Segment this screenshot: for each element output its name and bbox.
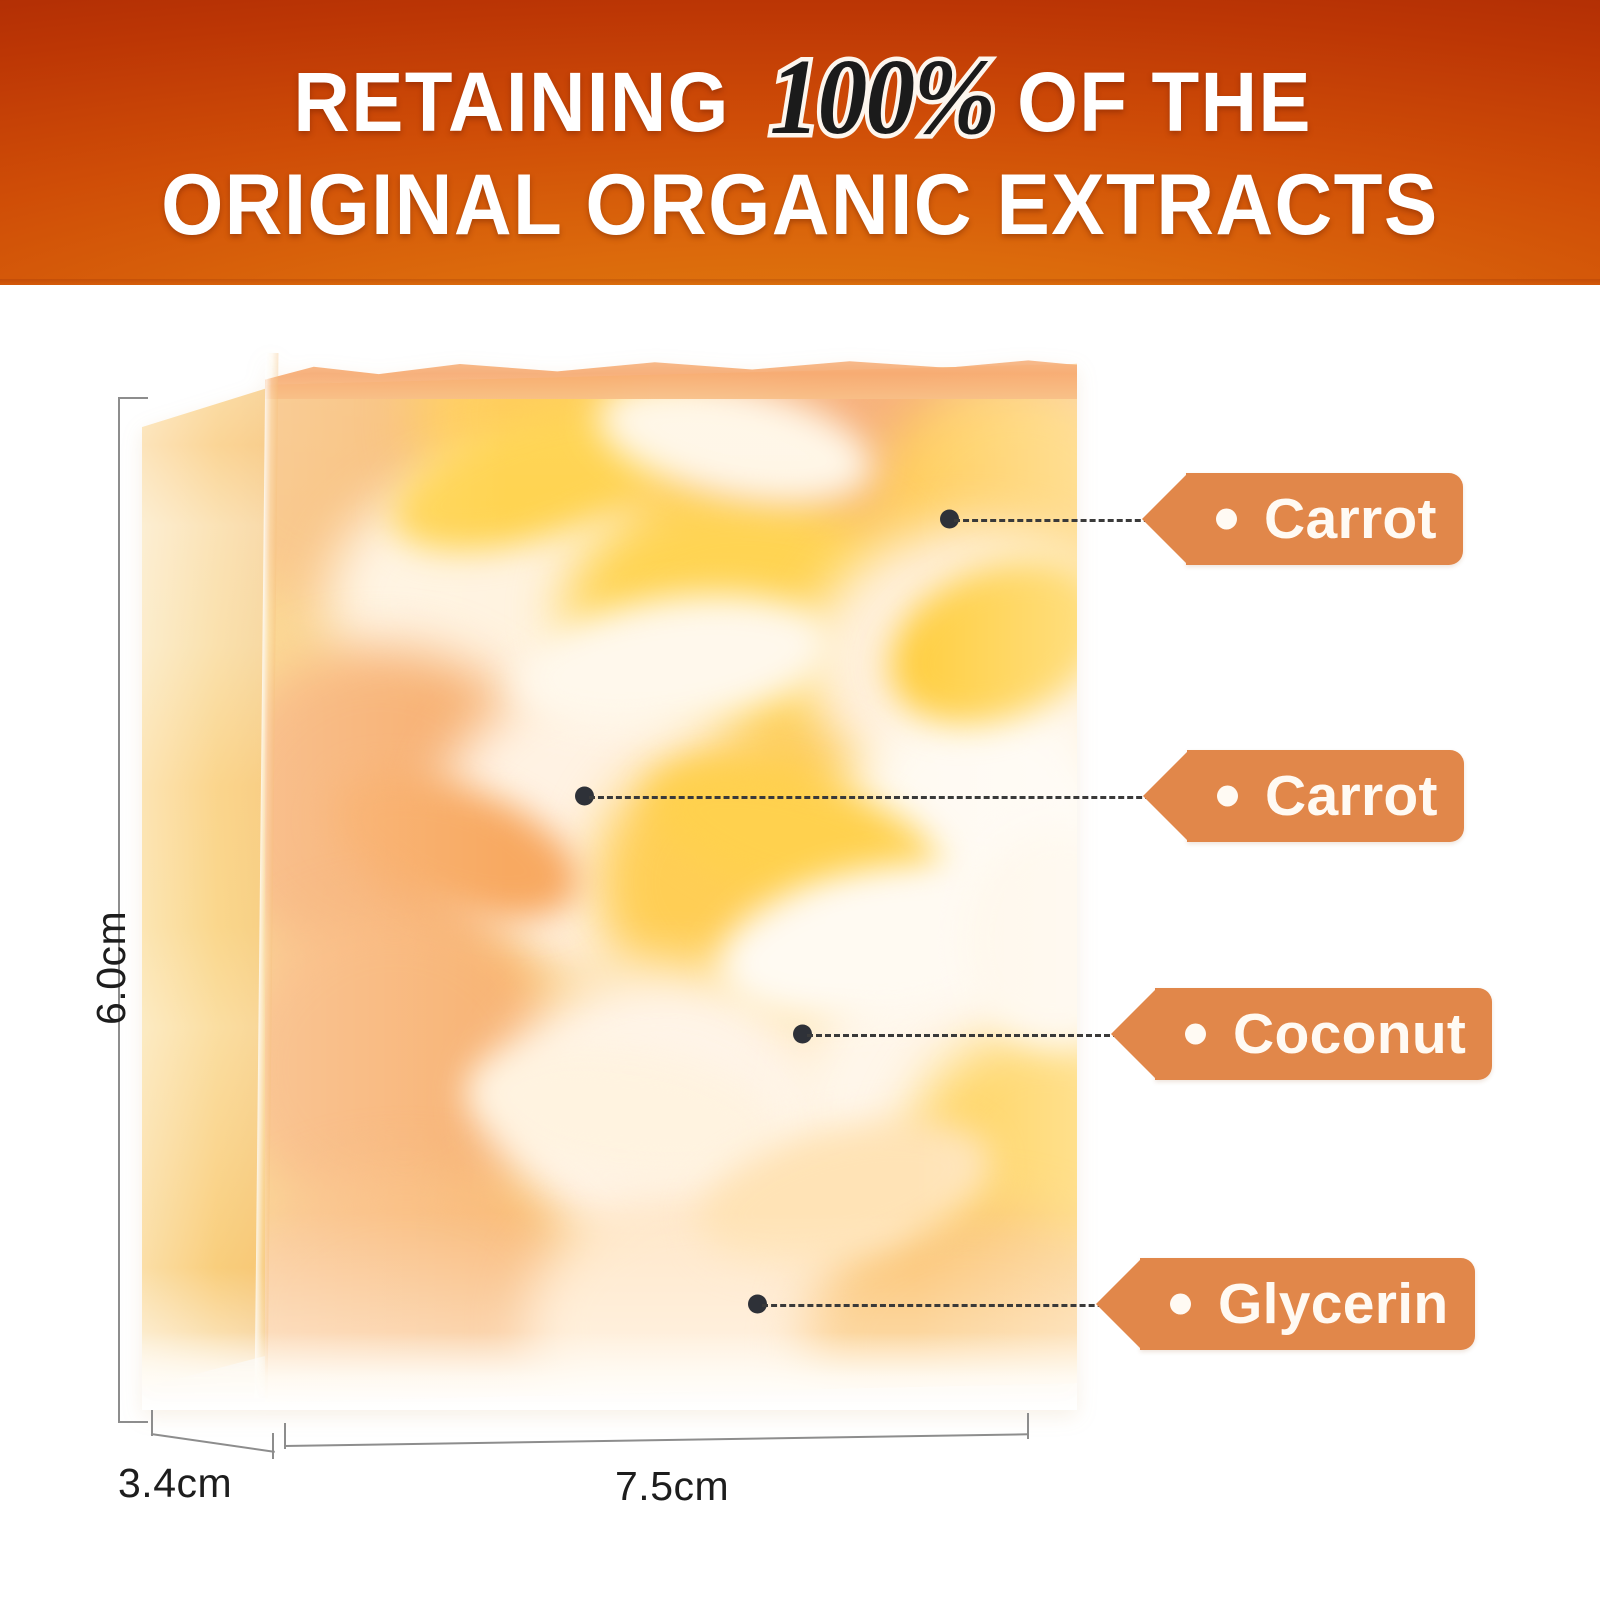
headline-line-2: ORIGINAL ORGANIC EXTRACTS bbox=[113, 162, 1487, 248]
callout-carrot-mid[interactable]: Carrot bbox=[575, 750, 1464, 842]
callout-carrot-top[interactable]: Carrot bbox=[940, 473, 1463, 565]
tag-bullet-icon bbox=[1185, 1024, 1206, 1045]
tag-label: Carrot bbox=[1265, 763, 1438, 829]
tag-coconut[interactable]: Coconut bbox=[1155, 988, 1492, 1080]
tag-glycerin[interactable]: Glycerin bbox=[1140, 1258, 1475, 1350]
callout-dashed-line bbox=[807, 1034, 1155, 1037]
dimension-height-label: 6.0cm bbox=[88, 911, 135, 1025]
callout-coconut[interactable]: Coconut bbox=[793, 988, 1492, 1080]
callout-glycerin[interactable]: Glycerin bbox=[748, 1258, 1475, 1350]
tag-carrot-mid[interactable]: Carrot bbox=[1187, 750, 1464, 842]
callout-dashed-line bbox=[589, 796, 1187, 799]
tag-bullet-icon bbox=[1217, 786, 1238, 807]
dimension-depth-label: 3.4cm bbox=[118, 1460, 232, 1507]
headline-line-1: RETAINING 100% OF THE bbox=[277, 42, 1323, 150]
headline-percent-highlight: 100% bbox=[770, 44, 994, 152]
tag-label: Glycerin bbox=[1218, 1271, 1449, 1337]
soap-bar-image bbox=[142, 347, 1077, 1402]
dimension-width-label: 7.5cm bbox=[615, 1463, 729, 1510]
tag-label: Carrot bbox=[1264, 486, 1437, 552]
headline-suffix: OF THE bbox=[1017, 60, 1312, 144]
headline-prefix: RETAINING bbox=[293, 60, 729, 144]
callout-dashed-line bbox=[762, 1304, 1140, 1307]
header-banner: RETAINING 100% OF THE ORIGINAL ORGANIC E… bbox=[0, 0, 1600, 285]
product-area: 6.0cm 3.4cm 7.5cm Carrot Carrot bbox=[0, 285, 1600, 1600]
headline-line-2-text: ORIGINAL ORGANIC EXTRACTS bbox=[161, 162, 1439, 248]
soap-top-edge bbox=[265, 353, 1077, 399]
tag-carrot-top[interactable]: Carrot bbox=[1186, 473, 1463, 565]
tag-bullet-icon bbox=[1216, 509, 1237, 530]
tag-label: Coconut bbox=[1233, 1001, 1466, 1067]
tag-bullet-icon bbox=[1170, 1294, 1191, 1315]
header-banner-inner: RETAINING 100% OF THE ORIGINAL ORGANIC E… bbox=[0, 0, 1600, 285]
